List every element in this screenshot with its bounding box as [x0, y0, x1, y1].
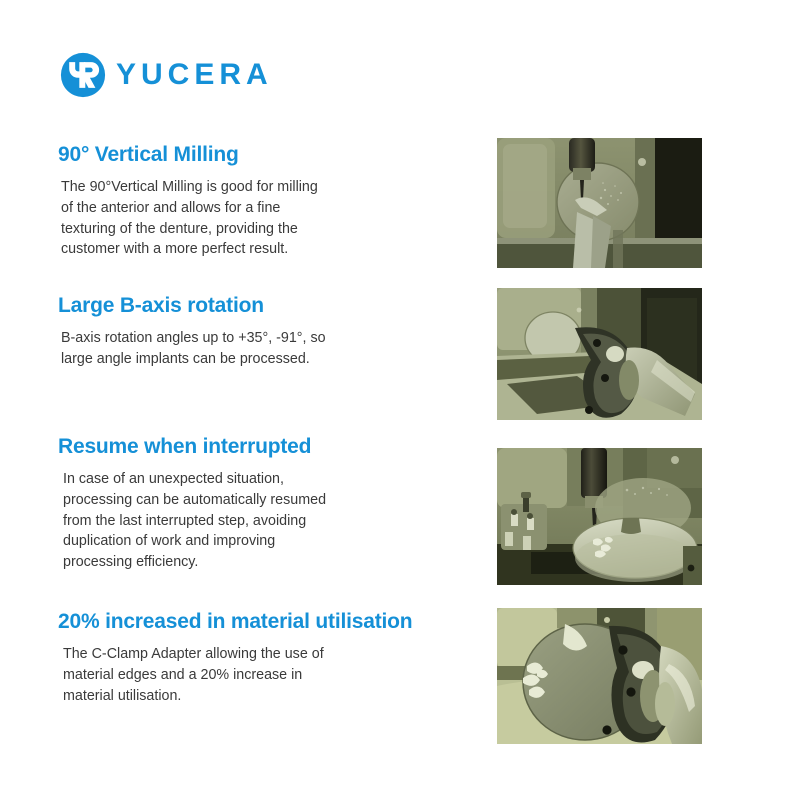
resume-when-interrupted-photo	[497, 448, 702, 585]
feature-body: In case of an unexpected situation, proc…	[63, 469, 488, 573]
feature-heading: Resume when interrupted	[58, 435, 488, 459]
feature-body-line: processing can be automatically resumed	[63, 490, 488, 511]
b-axis-rotation-photo	[497, 288, 702, 420]
vertical-milling-spindle-photo	[497, 138, 702, 268]
feature-body-line: material utilisation.	[63, 686, 488, 707]
feature-text-block: Large B-axis rotation B-axis rotation an…	[58, 294, 488, 370]
yucera-yr-monogram-icon	[60, 52, 106, 98]
feature-text-block: Resume when interrupted In case of an un…	[58, 435, 488, 573]
feature-body-line: customer with a more perfect result.	[61, 239, 488, 260]
photo-artwork	[497, 608, 702, 744]
feature-body-line: The 90°Vertical Milling is good for mill…	[61, 177, 488, 198]
feature-body-line: The C-Clamp Adapter allowing the use of	[63, 644, 488, 665]
feature-body-line: processing efficiency.	[63, 552, 488, 573]
feature-body-line: texturing of the denture, providing the	[61, 219, 488, 240]
brand-logo: YUCERA	[60, 52, 273, 98]
feature-heading: 90° Vertical Milling	[58, 143, 488, 167]
feature-body-line: duplication of work and improving	[63, 531, 488, 552]
feature-heading: Large B-axis rotation	[58, 294, 488, 318]
feature-text-block: 90° Vertical Milling The 90°Vertical Mil…	[58, 143, 488, 260]
feature-body: B-axis rotation angles up to +35°, -91°,…	[61, 328, 488, 369]
photo-artwork	[497, 448, 702, 585]
feature-body: The 90°Vertical Milling is good for mill…	[61, 177, 488, 260]
photo-artwork	[497, 288, 702, 420]
feature-body-line: B-axis rotation angles up to +35°, -91°,…	[61, 328, 488, 349]
brand-wordmark: YUCERA	[116, 60, 273, 90]
c-clamp-adapter-photo	[497, 608, 702, 744]
feature-body-line: large angle implants can be processed.	[61, 349, 488, 370]
feature-text-block: 20% increased in material utilisation Th…	[58, 610, 488, 706]
photo-artwork	[497, 138, 702, 268]
feature-body: The C-Clamp Adapter allowing the use of …	[63, 644, 488, 706]
feature-body-line: material edges and a 20% increase in	[63, 665, 488, 686]
feature-body-line: from the last interrupted step, avoiding	[63, 511, 488, 532]
feature-body-line: In case of an unexpected situation,	[63, 469, 488, 490]
feature-heading: 20% increased in material utilisation	[58, 610, 488, 634]
feature-body-line: of the anterior and allows for a fine	[61, 198, 488, 219]
